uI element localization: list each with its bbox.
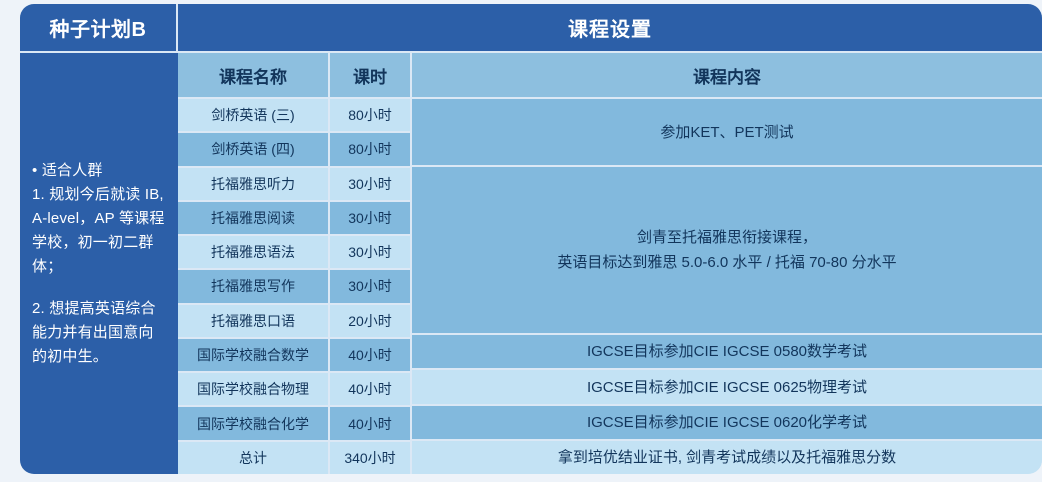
table-row: 托福雅思语法 30小时: [178, 234, 410, 268]
cell-hours: 80小时: [330, 133, 410, 165]
content-cell-cambridge: 参加KET、PET测试: [412, 97, 1042, 165]
course-plan-card: 种子计划B 课程设置 • 适合人群 1. 规划今后就读 IB, A-level，…: [20, 4, 1042, 474]
header-course-name: 课程名称: [178, 53, 328, 97]
sidebar-spacer: [32, 279, 166, 297]
table-header-row: 课程名称 课时 课程内容: [178, 51, 1042, 97]
table-row: 托福雅思听力 30小时: [178, 166, 410, 200]
cell-hours: 40小时: [330, 407, 410, 439]
cell-hours: 40小时: [330, 339, 410, 371]
table-left-columns: 剑桥英语 (三) 80小时 剑桥英语 (四) 80小时 托福雅思听力 30小时 …: [178, 97, 410, 474]
table-row: 剑桥英语 (三) 80小时: [178, 97, 410, 131]
cell-course-name: 总计: [178, 442, 328, 474]
content-cell-outcome: 拿到培优结业证书, 剑青考试成绩以及托福雅思分数: [412, 439, 1042, 474]
cell-hours: 30小时: [330, 236, 410, 268]
cell-hours: 40小时: [330, 373, 410, 405]
audience-bullet-title: • 适合人群: [32, 159, 166, 183]
cell-hours: 80小时: [330, 99, 410, 131]
plan-title: 种子计划B: [20, 4, 178, 51]
audience-item-2: 2. 想提高英语综合能力并有出国意向的初中生。: [32, 297, 166, 369]
cell-course-name: 国际学校融合数学: [178, 339, 328, 371]
content-line-1: 剑青至托福雅思衔接课程，: [637, 229, 817, 246]
card-banner: 种子计划B 课程设置: [20, 4, 1042, 51]
cell-hours: 30小时: [330, 168, 410, 200]
table-row: 托福雅思写作 30小时: [178, 268, 410, 302]
cell-hours: 20小时: [330, 305, 410, 337]
table-row: 国际学校融合物理 40小时: [178, 371, 410, 405]
header-content: 课程内容: [412, 53, 1042, 97]
cell-course-name: 托福雅思语法: [178, 236, 328, 268]
table-row: 托福雅思阅读 30小时: [178, 200, 410, 234]
cell-course-name: 托福雅思阅读: [178, 202, 328, 234]
content-cell-math: IGCSE目标参加CIE IGCSE 0580数学考试: [412, 333, 1042, 368]
table-row: 国际学校融合化学 40小时: [178, 405, 410, 439]
table-content-column: 参加KET、PET测试 剑青至托福雅思衔接课程， 英语目标达到雅思 5.0-6.…: [412, 97, 1042, 474]
table-row: 国际学校融合数学 40小时: [178, 337, 410, 371]
table-row: 剑桥英语 (四) 80小时: [178, 131, 410, 165]
content-cell-physics: IGCSE目标参加CIE IGCSE 0625物理考试: [412, 368, 1042, 403]
course-table: 课程名称 课时 课程内容 剑桥英语 (三) 80小时 剑桥英语 (四) 80小时: [178, 51, 1042, 474]
audience-sidebar: • 适合人群 1. 规划今后就读 IB, A-level，AP 等课程学校，初一…: [20, 51, 178, 474]
content-cell-chemistry: IGCSE目标参加CIE IGCSE 0620化学考试: [412, 404, 1042, 439]
cell-course-name: 剑桥英语 (三): [178, 99, 328, 131]
table-body: 剑桥英语 (三) 80小时 剑桥英语 (四) 80小时 托福雅思听力 30小时 …: [178, 97, 1042, 474]
cell-course-name: 剑桥英语 (四): [178, 133, 328, 165]
cell-hours: 30小时: [330, 202, 410, 234]
cell-course-name: 托福雅思听力: [178, 168, 328, 200]
cell-course-name: 托福雅思写作: [178, 270, 328, 302]
cell-course-name: 国际学校融合化学: [178, 407, 328, 439]
table-row: 托福雅思口语 20小时: [178, 303, 410, 337]
section-title: 课程设置: [178, 4, 1042, 51]
audience-item-1: 1. 规划今后就读 IB, A-level，AP 等课程学校，初一初二群体；: [32, 183, 166, 279]
header-hours: 课时: [330, 53, 410, 97]
content-line-2: 英语目标达到雅思 5.0-6.0 水平 / 托福 70-80 分水平: [557, 254, 896, 271]
cell-hours: 30小时: [330, 270, 410, 302]
cell-course-name: 国际学校融合物理: [178, 373, 328, 405]
cell-course-name: 托福雅思口语: [178, 305, 328, 337]
card-body: • 适合人群 1. 规划今后就读 IB, A-level，AP 等课程学校，初一…: [20, 51, 1042, 474]
cell-hours: 340小时: [330, 442, 410, 474]
table-row-total: 总计 340小时: [178, 440, 410, 474]
content-cell-toefl-ielts: 剑青至托福雅思衔接课程， 英语目标达到雅思 5.0-6.0 水平 / 托福 70…: [412, 165, 1042, 333]
